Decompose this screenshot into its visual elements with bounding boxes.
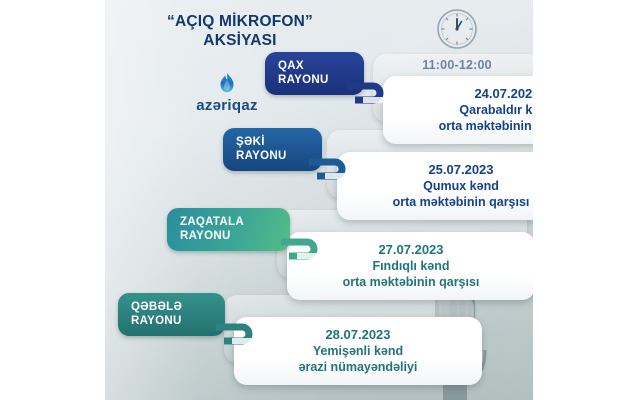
event-date: 27.07.2023: [303, 241, 519, 258]
event-place-line-2: orta məktəbinin qarşısı: [399, 118, 533, 134]
event-card[interactable]: 25.07.2023 Qumux kənd orta məktəbinin qa…: [337, 152, 533, 220]
logo-wordmark: azəriqaz: [167, 97, 287, 114]
event-place-line-2: ərazi nümayəndəliyi: [250, 359, 466, 375]
title-line-2: AKSİYASI: [115, 31, 365, 50]
title-line-1: “AÇIQ MİKROFON”: [115, 12, 365, 31]
clock-icon: [436, 8, 478, 50]
event-card[interactable]: 28.07.2023 Yemişənli kənd ərazi nümayənd…: [234, 317, 482, 385]
poster-canvas: “AÇIQ MİKROFON” AKSİYASI azəriqaz: [105, 0, 533, 400]
region-name: ŞƏKİ: [236, 135, 296, 149]
region-badge[interactable]: ZAQATALA RAYONU: [167, 208, 290, 251]
event-place-line-2: orta məktəbinin qarşısı: [353, 194, 533, 210]
event-place-line-2: orta məktəbinin qarşısı: [303, 274, 519, 290]
region-name: ZAQATALA: [180, 215, 264, 229]
region-suffix: RAYONU: [180, 229, 264, 243]
event-card[interactable]: 24.07.2023 Qarabaldır kənd orta məktəbin…: [383, 76, 533, 144]
event-date: 25.07.2023: [353, 161, 533, 178]
flame-icon: [217, 72, 237, 94]
event-place-line-1: Qumux kənd: [353, 178, 533, 194]
region-suffix: RAYONU: [131, 314, 199, 328]
event-card[interactable]: 27.07.2023 Fındıqlı kənd orta məktəbinin…: [287, 232, 533, 300]
event-place-line-1: Yemişənli kənd: [250, 343, 466, 359]
region-suffix: RAYONU: [278, 73, 338, 87]
connector-hook-icon: [212, 323, 258, 345]
region-suffix: RAYONU: [236, 149, 296, 163]
connector-hook-icon: [343, 82, 389, 104]
region-name: QAX: [278, 59, 338, 73]
event-date: 24.07.2023: [399, 85, 533, 102]
region-badge[interactable]: QƏBƏLƏ RAYONU: [118, 293, 225, 336]
event-place-line-1: Qarabaldır kənd: [399, 102, 533, 118]
page-title: “AÇIQ MİKROFON” AKSİYASI: [115, 12, 365, 50]
region-name: QƏBƏLƏ: [131, 300, 199, 314]
connector-hook-icon: [277, 238, 323, 260]
event-place-line-1: Fındıqlı kənd: [303, 258, 519, 274]
connector-hook-icon: [305, 158, 351, 180]
event-date: 28.07.2023: [250, 326, 466, 343]
